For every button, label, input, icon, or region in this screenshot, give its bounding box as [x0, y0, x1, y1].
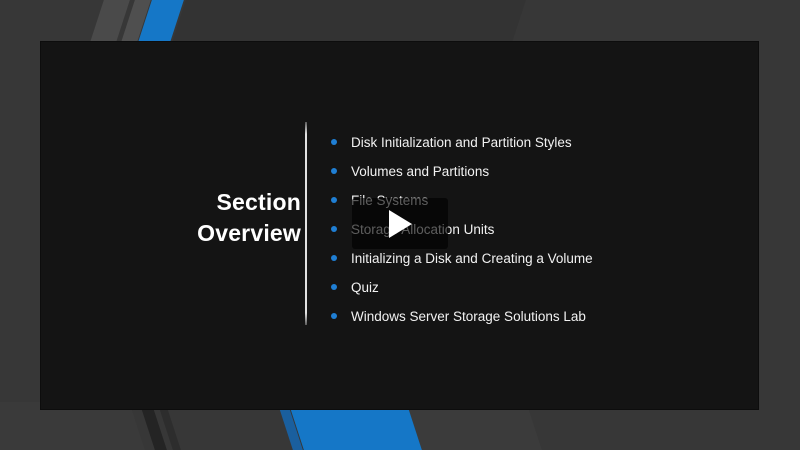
page-title: Section Overview: [111, 187, 301, 248]
list-item-label: Disk Initialization and Partition Styles: [351, 136, 572, 150]
list-item: Windows Server Storage Solutions Lab: [329, 302, 729, 331]
page-title-line-1: Section: [111, 187, 301, 218]
bottom-stripe-gray-1: [406, 402, 547, 450]
play-button[interactable]: [352, 198, 448, 249]
play-triangle-icon: [385, 208, 415, 240]
bullet-dot-icon: [331, 226, 337, 232]
bottom-stripe-blue: [288, 402, 427, 450]
bullet-dot-icon: [331, 313, 337, 319]
bullet-dot-icon: [331, 255, 337, 261]
vertical-divider: [305, 122, 307, 325]
bottom-stripe-dark-1: [139, 402, 172, 450]
list-item: Quiz: [329, 273, 729, 302]
list-item: Disk Initialization and Partition Styles: [329, 128, 729, 157]
bullet-dot-icon: [331, 197, 337, 203]
list-item-label: Quiz: [351, 281, 379, 295]
video-player-stage: Section Overview Disk Initialization and…: [0, 0, 800, 450]
bullet-dot-icon: [331, 139, 337, 145]
bottom-stripe-blue-shadow: [277, 402, 308, 450]
list-item: Volumes and Partitions: [329, 157, 729, 186]
page-title-line-2: Overview: [111, 218, 301, 249]
bullet-dot-icon: [331, 168, 337, 174]
bottom-stripe-gray-0: [0, 402, 151, 450]
list-item-label: Windows Server Storage Solutions Lab: [351, 310, 586, 324]
list-item-label: Initializing a Disk and Creating a Volum…: [351, 252, 593, 266]
bullet-dot-icon: [331, 284, 337, 290]
bottom-stripe-dark-2: [157, 402, 186, 450]
list-item-label: Volumes and Partitions: [351, 165, 489, 179]
